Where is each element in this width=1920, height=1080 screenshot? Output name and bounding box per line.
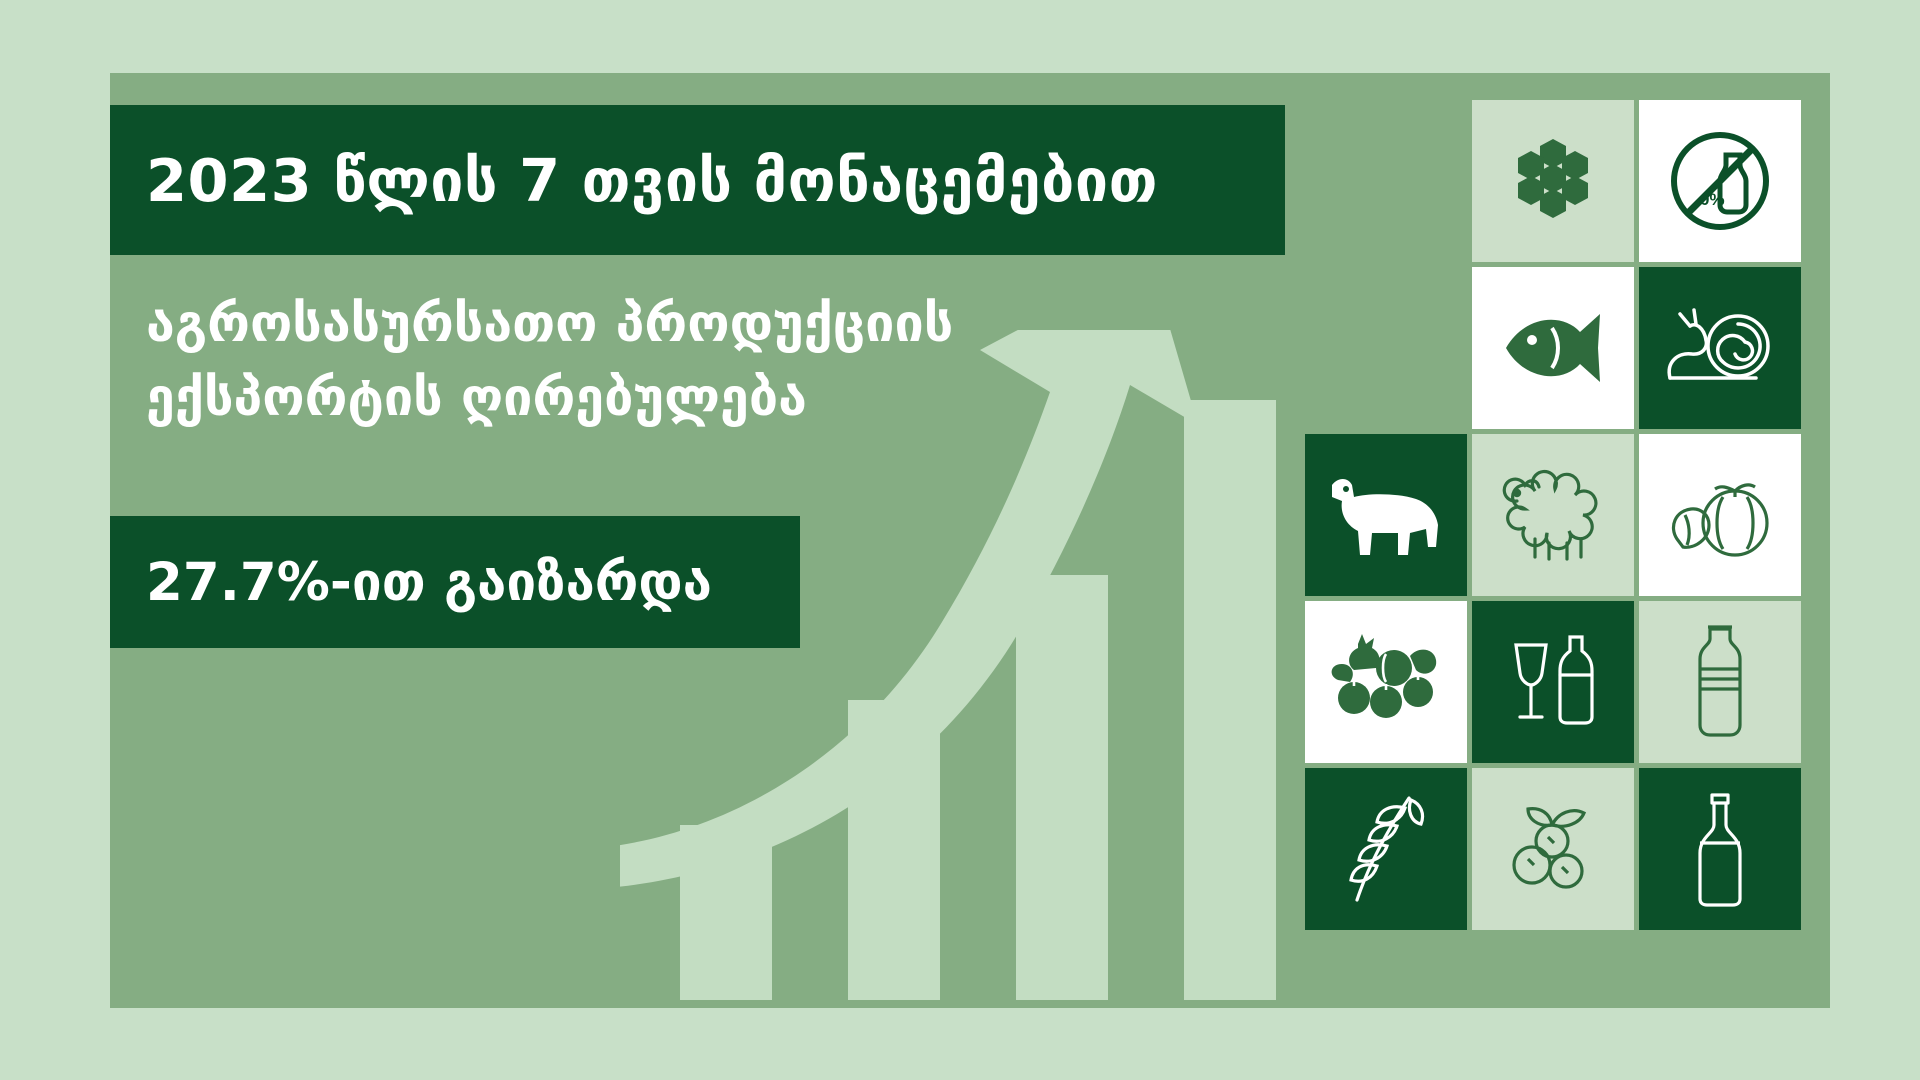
subtitle-line-2: ექსპორტის ღირებულება [146, 362, 1266, 436]
fruit-basket-icon [1324, 630, 1448, 734]
icon-cell-fish [1472, 267, 1634, 429]
icon-cell-no-alcohol: 0% [1639, 100, 1801, 262]
fish-icon [1494, 298, 1612, 398]
snail-icon [1660, 298, 1780, 398]
infographic-canvas: 2023 წლის 7 თვის მონაცემებით აგროსასურსა… [0, 0, 1920, 1080]
icon-cell-herbs [1305, 768, 1467, 930]
stat-text: 27.7%-ით გაიზარდა [146, 556, 712, 609]
icon-cell-oil-bottle [1639, 768, 1801, 930]
stat-banner: 27.7%-ით გაიზარდა [110, 516, 800, 648]
product-icon-grid: 0% [1290, 100, 1840, 980]
vegetable-icon [1661, 465, 1779, 565]
icon-cell-honeycomb [1472, 100, 1634, 262]
icon-cell-nuts [1472, 768, 1634, 930]
icon-cell-cow [1305, 434, 1467, 596]
wine-icon [1498, 627, 1608, 737]
water-bottle-icon [1684, 623, 1756, 741]
oil-bottle-icon [1688, 789, 1752, 909]
honeycomb-icon [1503, 131, 1603, 231]
icon-cell-vegetables [1639, 434, 1801, 596]
sheep-icon [1491, 463, 1615, 567]
zero-percent-label: 0% [1700, 190, 1725, 209]
icon-cell-snail [1639, 267, 1801, 429]
herb-icon [1331, 790, 1441, 908]
nut-icon [1494, 797, 1612, 901]
headline-text: 2023 წლის 7 თვის მონაცემებით [146, 151, 1158, 210]
no-alcohol-icon: 0% [1664, 125, 1776, 237]
icon-cell-wine [1472, 601, 1634, 763]
subtitle-block: აგროსასურსათო პროდუქციის ექსპორტის ღირებ… [146, 288, 1266, 436]
cow-icon [1324, 463, 1448, 567]
icon-cell-water-bottle [1639, 601, 1801, 763]
icon-cell-fruit-basket [1305, 601, 1467, 763]
subtitle-line-1: აგროსასურსათო პროდუქციის [146, 288, 1266, 362]
headline-banner: 2023 წლის 7 თვის მონაცემებით [110, 105, 1285, 255]
icon-cell-sheep [1472, 434, 1634, 596]
